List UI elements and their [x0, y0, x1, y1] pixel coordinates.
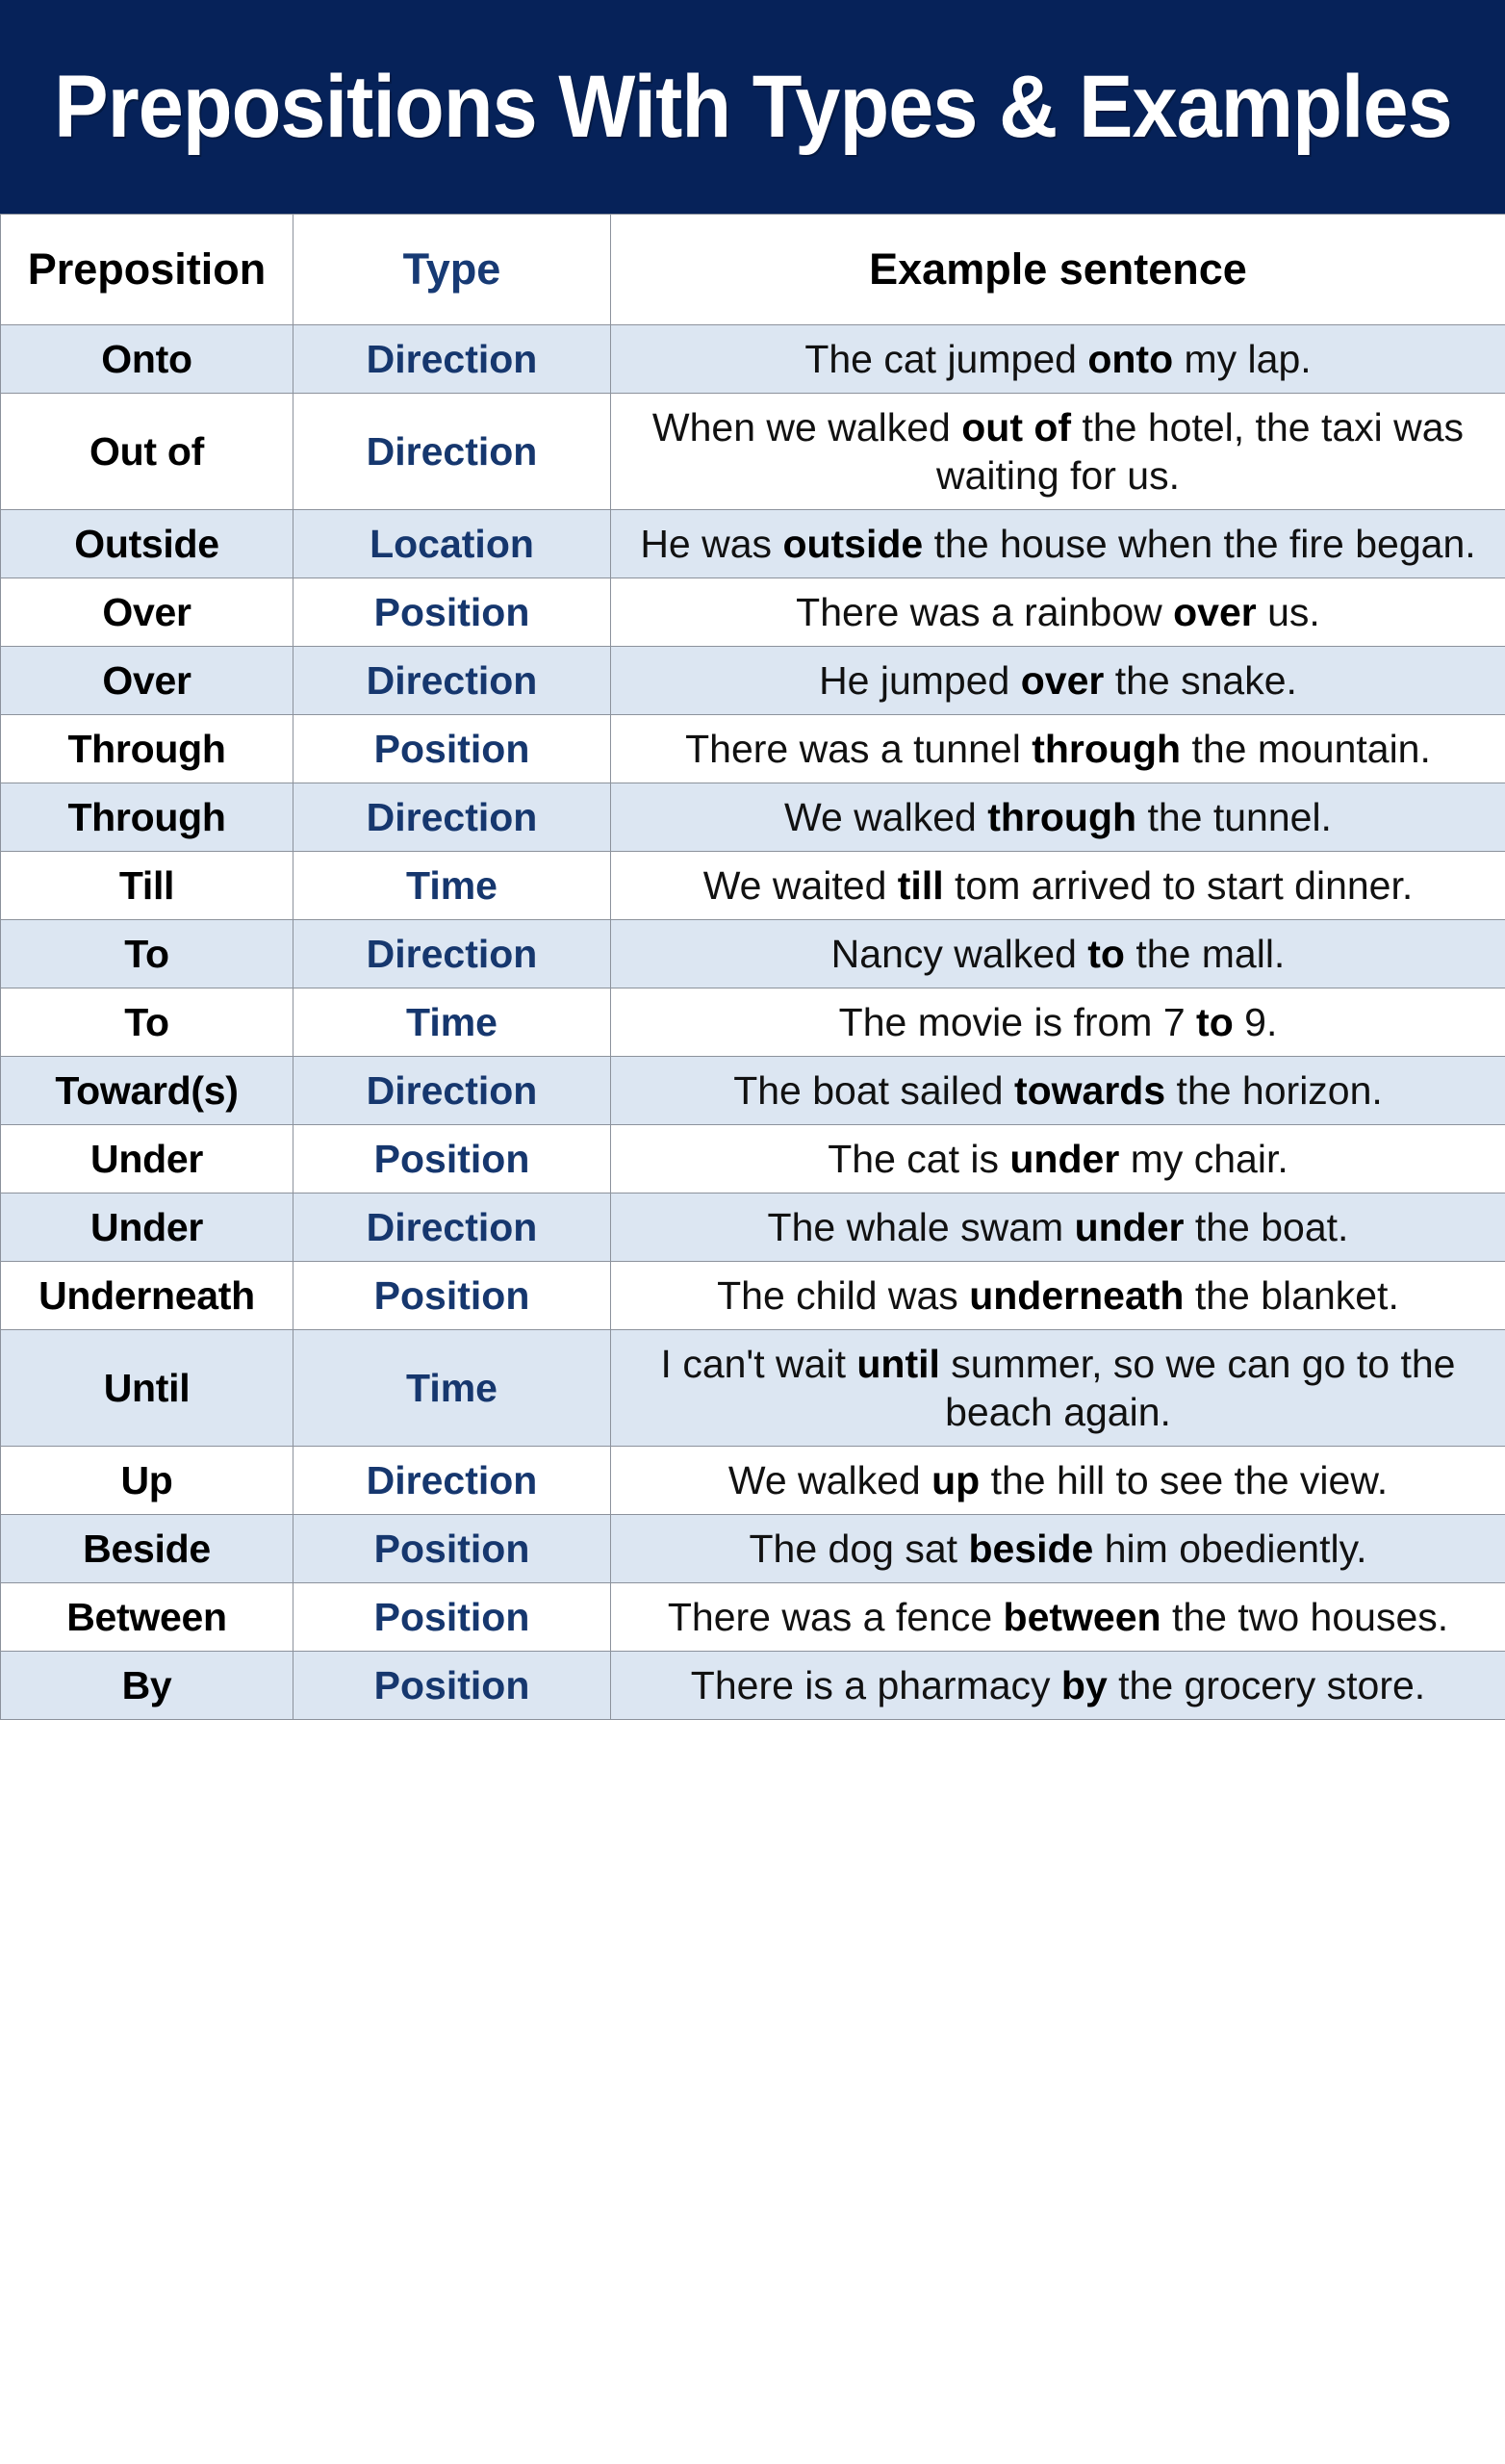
cell-preposition: Through	[1, 783, 293, 852]
example-text-before: We waited	[703, 863, 898, 908]
title-banner: Prepositions With Types & Examples	[0, 0, 1505, 214]
example-text-after: us.	[1257, 590, 1320, 634]
example-text-before: There was a fence	[668, 1595, 1004, 1639]
example-text-after: the blanket.	[1184, 1273, 1398, 1318]
cell-preposition: Underneath	[1, 1262, 293, 1330]
cell-type: Direction	[293, 394, 611, 510]
cell-type: Position	[293, 715, 611, 783]
example-text-before: There was a tunnel	[685, 727, 1032, 771]
cell-example-sentence: The movie is from 7 to 9.	[611, 988, 1505, 1057]
cell-example-sentence: We walked through the tunnel.	[611, 783, 1505, 852]
cell-example-sentence: The dog sat beside him obediently.	[611, 1515, 1505, 1583]
table-row: UnderneathPositionThe child was undernea…	[1, 1262, 1505, 1330]
example-text-before: We walked	[728, 1458, 931, 1502]
example-text-after: 9.	[1234, 1000, 1278, 1044]
table-row: OverDirectionHe jumped over the snake.	[1, 647, 1505, 715]
cell-preposition: Beside	[1, 1515, 293, 1583]
table-row: ByPositionThere is a pharmacy by the gro…	[1, 1652, 1505, 1720]
cell-preposition: Over	[1, 578, 293, 647]
table-row: Toward(s)DirectionThe boat sailed toward…	[1, 1057, 1505, 1125]
table-row: ToTimeThe movie is from 7 to 9.	[1, 988, 1505, 1057]
example-text-after: the boat.	[1184, 1205, 1348, 1249]
cell-example-sentence: The whale swam under the boat.	[611, 1193, 1505, 1262]
example-text-before: The dog sat	[750, 1527, 969, 1571]
cell-preposition: Toward(s)	[1, 1057, 293, 1125]
table-row: OntoDirectionThe cat jumped onto my lap.	[1, 325, 1505, 394]
table-row: BesidePositionThe dog sat beside him obe…	[1, 1515, 1505, 1583]
cell-type: Position	[293, 1583, 611, 1652]
cell-example-sentence: I can't wait until summer, so we can go …	[611, 1330, 1505, 1447]
example-text-after: him obediently.	[1093, 1527, 1366, 1571]
example-text-after: tom arrived to start dinner.	[944, 863, 1414, 908]
table-row: UnderPositionThe cat is under my chair.	[1, 1125, 1505, 1193]
cell-preposition: Through	[1, 715, 293, 783]
example-preposition-highlight: towards	[1014, 1068, 1165, 1113]
cell-example-sentence: When we walked out of the hotel, the tax…	[611, 394, 1505, 510]
column-header-type: Type	[293, 215, 611, 325]
example-preposition-highlight: over	[1173, 590, 1257, 634]
example-text-after: my chair.	[1119, 1137, 1288, 1181]
cell-preposition: Until	[1, 1330, 293, 1447]
example-text-before: When we walked	[652, 405, 961, 449]
example-text-before: The cat is	[828, 1137, 1009, 1181]
cell-type: Direction	[293, 783, 611, 852]
cell-preposition: Out of	[1, 394, 293, 510]
example-preposition-highlight: over	[1021, 658, 1105, 703]
cell-example-sentence: There is a pharmacy by the grocery store…	[611, 1652, 1505, 1720]
example-text-after: the tunnel.	[1136, 795, 1332, 839]
example-preposition-highlight: beside	[968, 1527, 1093, 1571]
example-text-after: the mall.	[1125, 932, 1285, 976]
cell-preposition: Onto	[1, 325, 293, 394]
example-text-after: the snake.	[1104, 658, 1297, 703]
example-preposition-highlight: till	[898, 863, 944, 908]
prepositions-table: Preposition Type Example sentence OntoDi…	[0, 214, 1505, 1720]
cell-example-sentence: The cat is under my chair.	[611, 1125, 1505, 1193]
cell-example-sentence: There was a fence between the two houses…	[611, 1583, 1505, 1652]
table-row: UnderDirectionThe whale swam under the b…	[1, 1193, 1505, 1262]
example-text-before: The movie is from 7	[839, 1000, 1196, 1044]
table-header: Preposition Type Example sentence	[1, 215, 1505, 325]
cell-example-sentence: The cat jumped onto my lap.	[611, 325, 1505, 394]
cell-type: Direction	[293, 1193, 611, 1262]
table-row: ThroughPositionThere was a tunnel throug…	[1, 715, 1505, 783]
example-text-before: We walked	[784, 795, 987, 839]
example-text-before: Nancy walked	[831, 932, 1088, 976]
example-text-before: He jumped	[819, 658, 1021, 703]
cell-type: Position	[293, 1652, 611, 1720]
table-row: OverPositionThere was a rainbow over us.	[1, 578, 1505, 647]
example-text-after: the mountain.	[1181, 727, 1431, 771]
cell-type: Position	[293, 578, 611, 647]
cell-type: Direction	[293, 1057, 611, 1125]
table-row: UpDirectionWe walked up the hill to see …	[1, 1447, 1505, 1515]
cell-example-sentence: We waited till tom arrived to start dinn…	[611, 852, 1505, 920]
example-preposition-highlight: up	[931, 1458, 980, 1502]
cell-preposition: Over	[1, 647, 293, 715]
example-preposition-highlight: through	[987, 795, 1136, 839]
table-row: OutsideLocationHe was outside the house …	[1, 510, 1505, 578]
example-text-after: summer, so we can go to the beach again.	[940, 1342, 1456, 1434]
example-preposition-highlight: until	[856, 1342, 940, 1386]
example-preposition-highlight: between	[1004, 1595, 1161, 1639]
cell-type: Direction	[293, 325, 611, 394]
example-text-before: He was	[640, 522, 782, 566]
example-preposition-highlight: under	[1009, 1137, 1119, 1181]
cell-type: Position	[293, 1125, 611, 1193]
example-text-before: The child was	[717, 1273, 969, 1318]
example-text-before: The cat jumped	[804, 337, 1087, 381]
table-row: Out ofDirectionWhen we walked out of the…	[1, 394, 1505, 510]
table-row: BetweenPositionThere was a fence between…	[1, 1583, 1505, 1652]
cell-preposition: By	[1, 1652, 293, 1720]
cell-example-sentence: There was a tunnel through the mountain.	[611, 715, 1505, 783]
cell-type: Direction	[293, 1447, 611, 1515]
table-body: OntoDirectionThe cat jumped onto my lap.…	[1, 325, 1505, 1720]
cell-type: Location	[293, 510, 611, 578]
cell-example-sentence: He was outside the house when the fire b…	[611, 510, 1505, 578]
cell-type: Position	[293, 1515, 611, 1583]
cell-preposition: Between	[1, 1583, 293, 1652]
example-preposition-highlight: through	[1032, 727, 1181, 771]
example-text-after: the house when the fire began.	[923, 522, 1475, 566]
example-text-after: the two houses.	[1161, 1595, 1449, 1639]
example-text-after: the horizon.	[1165, 1068, 1383, 1113]
cell-example-sentence: He jumped over the snake.	[611, 647, 1505, 715]
prepositions-table-wrapper: Preposition Type Example sentence OntoDi…	[0, 214, 1505, 1720]
table-row: ThroughDirectionWe walked through the tu…	[1, 783, 1505, 852]
table-row: TillTimeWe waited till tom arrived to st…	[1, 852, 1505, 920]
cell-preposition: Under	[1, 1125, 293, 1193]
cell-preposition: Outside	[1, 510, 293, 578]
cell-type: Time	[293, 988, 611, 1057]
example-text-before: There was a rainbow	[796, 590, 1173, 634]
example-preposition-highlight: to	[1196, 1000, 1234, 1044]
page-root: Prepositions With Types & Examples engli…	[0, 0, 1505, 2464]
cell-type: Time	[293, 1330, 611, 1447]
example-text-before: I can't wait	[661, 1342, 857, 1386]
cell-example-sentence: The child was underneath the blanket.	[611, 1262, 1505, 1330]
column-header-example: Example sentence	[611, 215, 1505, 325]
table-header-row: Preposition Type Example sentence	[1, 215, 1505, 325]
example-text-before: The whale swam	[768, 1205, 1075, 1249]
example-text-after: the hill to see the view.	[980, 1458, 1388, 1502]
example-preposition-highlight: underneath	[969, 1273, 1184, 1318]
example-text-before: The boat sailed	[733, 1068, 1014, 1113]
cell-example-sentence: There was a rainbow over us.	[611, 578, 1505, 647]
cell-example-sentence: We walked up the hill to see the view.	[611, 1447, 1505, 1515]
table-row: UntilTimeI can't wait until summer, so w…	[1, 1330, 1505, 1447]
example-preposition-highlight: onto	[1087, 337, 1173, 381]
example-preposition-highlight: under	[1075, 1205, 1185, 1249]
page-title: Prepositions With Types & Examples	[54, 63, 1452, 151]
cell-preposition: To	[1, 920, 293, 988]
example-preposition-highlight: to	[1087, 932, 1125, 976]
column-header-preposition: Preposition	[1, 215, 293, 325]
cell-type: Time	[293, 852, 611, 920]
table-row: ToDirectionNancy walked to the mall.	[1, 920, 1505, 988]
example-text-after: my lap.	[1173, 337, 1312, 381]
cell-preposition: Up	[1, 1447, 293, 1515]
cell-preposition: Till	[1, 852, 293, 920]
example-preposition-highlight: out of	[961, 405, 1071, 449]
cell-type: Position	[293, 1262, 611, 1330]
cell-example-sentence: Nancy walked to the mall.	[611, 920, 1505, 988]
cell-type: Direction	[293, 647, 611, 715]
example-preposition-highlight: by	[1061, 1663, 1108, 1707]
cell-preposition: Under	[1, 1193, 293, 1262]
cell-type: Direction	[293, 920, 611, 988]
example-text-after: the grocery store.	[1108, 1663, 1425, 1707]
cell-preposition: To	[1, 988, 293, 1057]
cell-example-sentence: The boat sailed towards the horizon.	[611, 1057, 1505, 1125]
example-preposition-highlight: outside	[782, 522, 923, 566]
example-text-before: There is a pharmacy	[691, 1663, 1061, 1707]
